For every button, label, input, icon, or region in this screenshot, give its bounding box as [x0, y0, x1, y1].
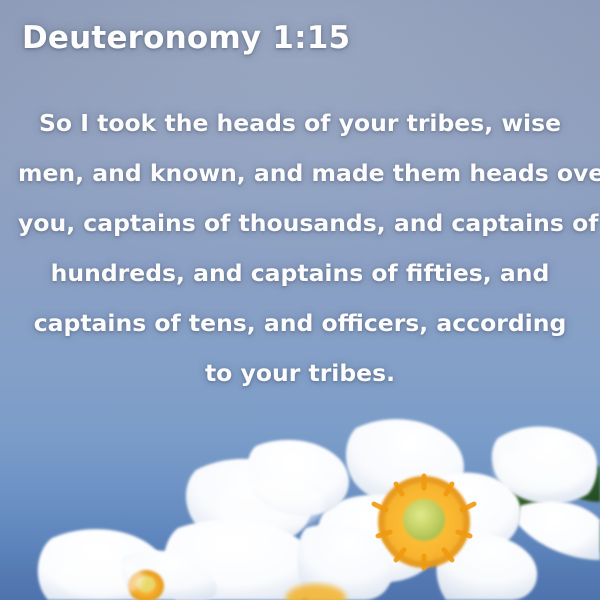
verse-image: Deuteronomy 1:15 So I took the heads of …	[0, 0, 600, 600]
flower-photo-layer	[0, 410, 600, 600]
verse-line: you, captains of thousands, and captains…	[18, 198, 582, 248]
verse-line: to your tribes.	[18, 348, 582, 398]
verse-line: hundreds, and captains of fifties, and	[18, 248, 582, 298]
flower-center-disc	[403, 499, 445, 541]
verse-line: men, and known, and made them heads over	[18, 148, 582, 198]
verse-line: captains of tens, and officers, accordin…	[18, 298, 582, 348]
verse-text-block: So I took the heads of your tribes, wise…	[0, 98, 600, 398]
verse-reference-title: Deuteronomy 1:15	[22, 20, 350, 56]
verse-line: So I took the heads of your tribes, wise	[18, 98, 582, 148]
